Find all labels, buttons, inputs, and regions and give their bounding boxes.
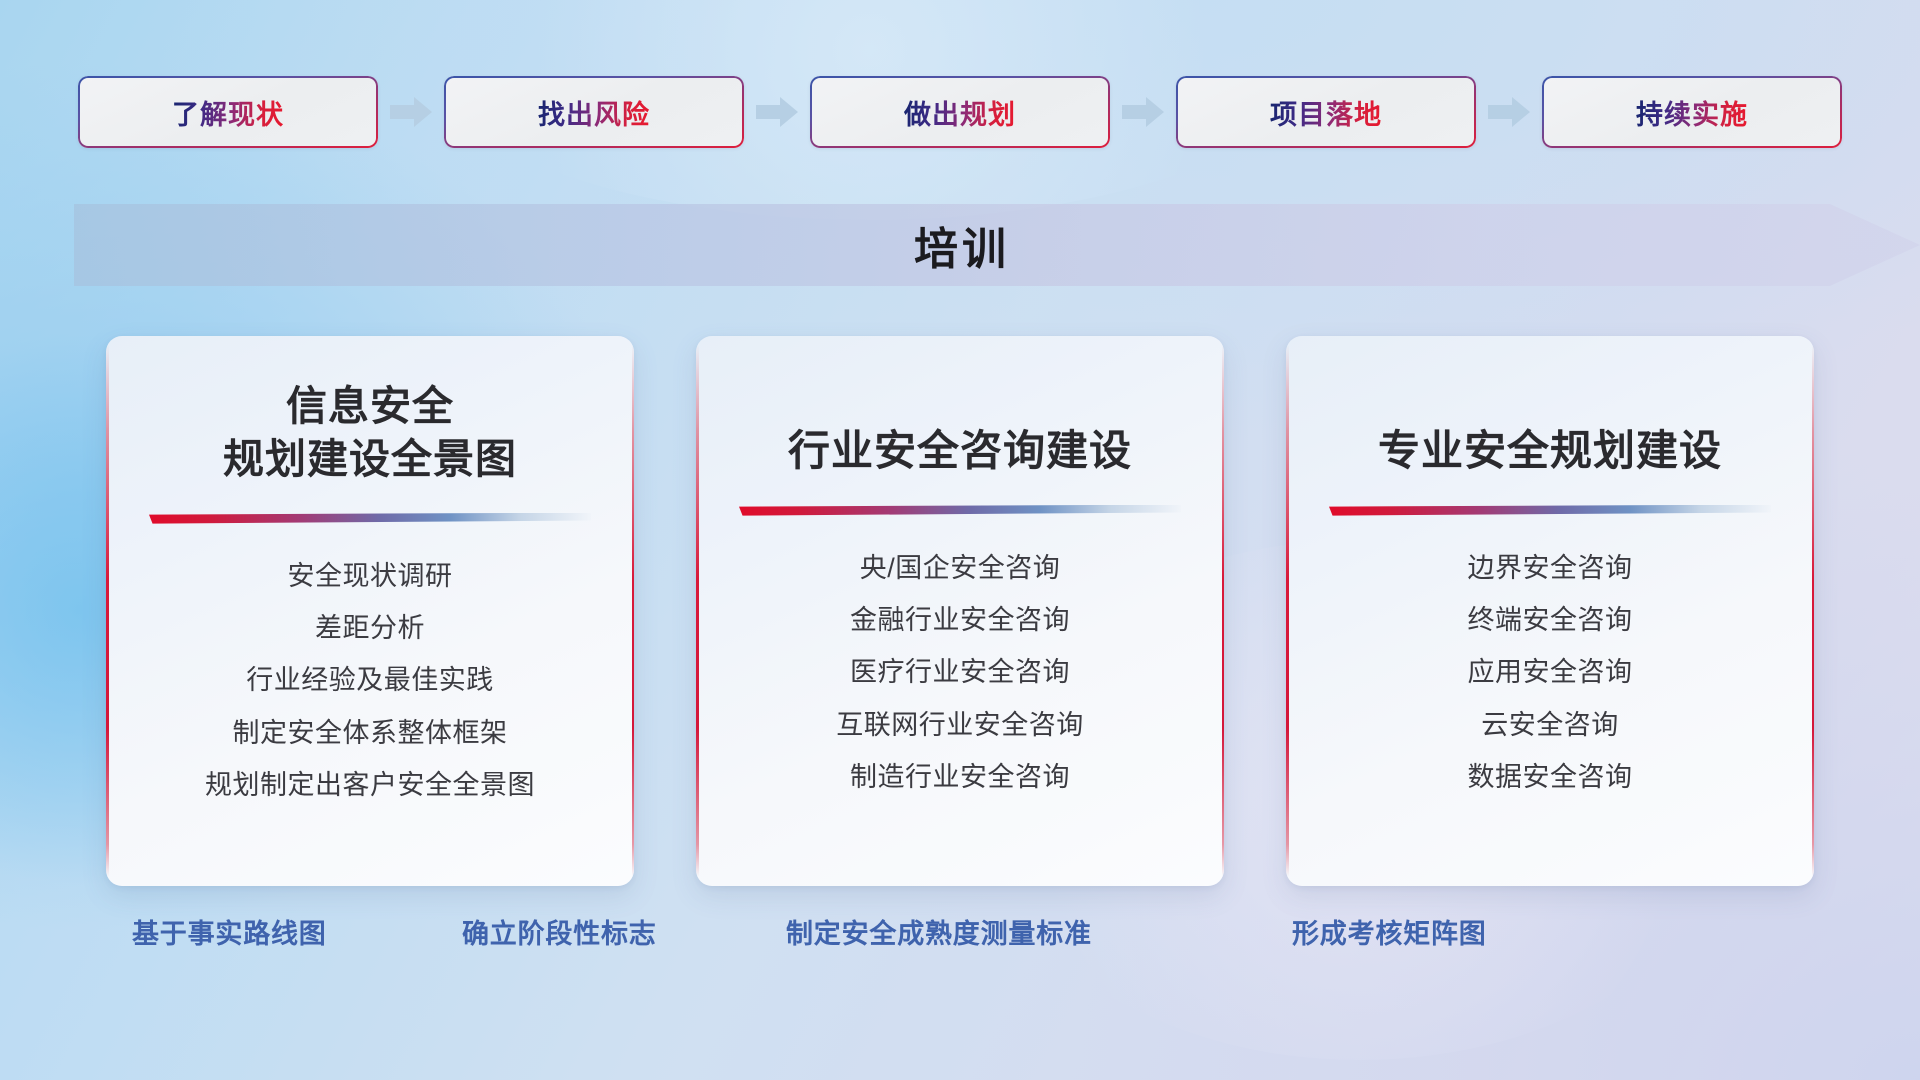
list-item: 行业经验及最佳实践 bbox=[246, 662, 494, 698]
card-header: 行业安全咨询建设 bbox=[696, 336, 1224, 479]
process-step-1[interactable]: 了解现状 bbox=[78, 76, 378, 148]
footnote-milestones: 确立阶段性标志 bbox=[462, 912, 657, 951]
list-item: 边界安全咨询 bbox=[1468, 550, 1633, 586]
process-step-label: 持续实施 bbox=[1636, 93, 1748, 132]
process-step-3[interactable]: 做出规划 bbox=[810, 76, 1110, 148]
card-title-line-1: 信息安全 bbox=[106, 380, 634, 433]
arrow-right-icon bbox=[1476, 76, 1542, 148]
process-step-5[interactable]: 持续实施 bbox=[1542, 76, 1842, 148]
card-list: 边界安全咨询 终端安全咨询 应用安全咨询 云安全咨询 数据安全咨询 bbox=[1286, 550, 1814, 796]
card-title-line-1: 行业安全咨询建设 bbox=[696, 380, 1224, 479]
arrow-right-icon bbox=[744, 76, 810, 148]
list-item: 医疗行业安全咨询 bbox=[850, 654, 1070, 690]
list-item: 终端安全咨询 bbox=[1468, 602, 1633, 638]
card-row: 信息安全 规划建设全景图 安全现状调研 差距分析 行业经验及最佳实践 制定安全体… bbox=[0, 336, 1920, 886]
list-item: 央/国企安全咨询 bbox=[860, 550, 1061, 586]
training-banner: 培训 bbox=[74, 204, 1920, 286]
card-divider bbox=[739, 505, 1181, 516]
list-item: 安全现状调研 bbox=[288, 558, 453, 594]
footnote-row: 基于事实路线图 确立阶段性标志 制定安全成熟度测量标准 形成考核矩阵图 bbox=[0, 912, 1920, 960]
arrow-right-icon bbox=[1110, 76, 1176, 148]
process-step-4[interactable]: 项目落地 bbox=[1176, 76, 1476, 148]
card-divider bbox=[1329, 505, 1771, 516]
process-step-label: 做出规划 bbox=[904, 93, 1016, 132]
card-title-line-1: 专业安全规划建设 bbox=[1286, 380, 1814, 479]
process-step-label: 找出风险 bbox=[538, 93, 650, 132]
card-list: 央/国企安全咨询 金融行业安全咨询 医疗行业安全咨询 互联网行业安全咨询 制造行… bbox=[696, 550, 1224, 796]
process-step-label: 了解现状 bbox=[172, 93, 284, 132]
list-item: 制定安全体系整体框架 bbox=[233, 715, 508, 751]
card-information-security-panorama[interactable]: 信息安全 规划建设全景图 安全现状调研 差距分析 行业经验及最佳实践 制定安全体… bbox=[106, 336, 634, 886]
card-header: 专业安全规划建设 bbox=[1286, 336, 1814, 479]
card-professional-security-planning[interactable]: 专业安全规划建设 边界安全咨询 终端安全咨询 应用安全咨询 云安全咨询 数据安全… bbox=[1286, 336, 1814, 886]
banner-title: 培训 bbox=[74, 204, 1920, 286]
card-header: 信息安全 规划建设全景图 bbox=[106, 336, 634, 487]
list-item: 制造行业安全咨询 bbox=[850, 759, 1070, 795]
process-step-row: 了解现状 找出风险 做出规划 项目落地 持续实施 bbox=[0, 76, 1920, 148]
list-item: 规划制定出客户安全全景图 bbox=[205, 767, 535, 803]
footnote-maturity-model: 制定安全成熟度测量标准 bbox=[786, 912, 1092, 951]
process-step-label: 项目落地 bbox=[1270, 93, 1382, 132]
card-title-line-2: 规划建设全景图 bbox=[106, 433, 634, 486]
list-item: 金融行业安全咨询 bbox=[850, 602, 1070, 638]
process-step-2[interactable]: 找出风险 bbox=[444, 76, 744, 148]
arrow-right-icon bbox=[378, 76, 444, 148]
list-item: 差距分析 bbox=[315, 610, 425, 646]
card-list: 安全现状调研 差距分析 行业经验及最佳实践 制定安全体系整体框架 规划制定出客户… bbox=[106, 558, 634, 804]
list-item: 云安全咨询 bbox=[1481, 707, 1619, 743]
list-item: 互联网行业安全咨询 bbox=[836, 707, 1084, 743]
card-industry-security-consulting[interactable]: 行业安全咨询建设 央/国企安全咨询 金融行业安全咨询 医疗行业安全咨询 互联网行… bbox=[696, 336, 1224, 886]
card-divider bbox=[149, 513, 591, 524]
list-item: 数据安全咨询 bbox=[1468, 759, 1633, 795]
footnote-assessment-matrix: 形成考核矩阵图 bbox=[1292, 912, 1487, 951]
list-item: 应用安全咨询 bbox=[1468, 654, 1633, 690]
footnote-roadmap: 基于事实路线图 bbox=[132, 912, 327, 951]
